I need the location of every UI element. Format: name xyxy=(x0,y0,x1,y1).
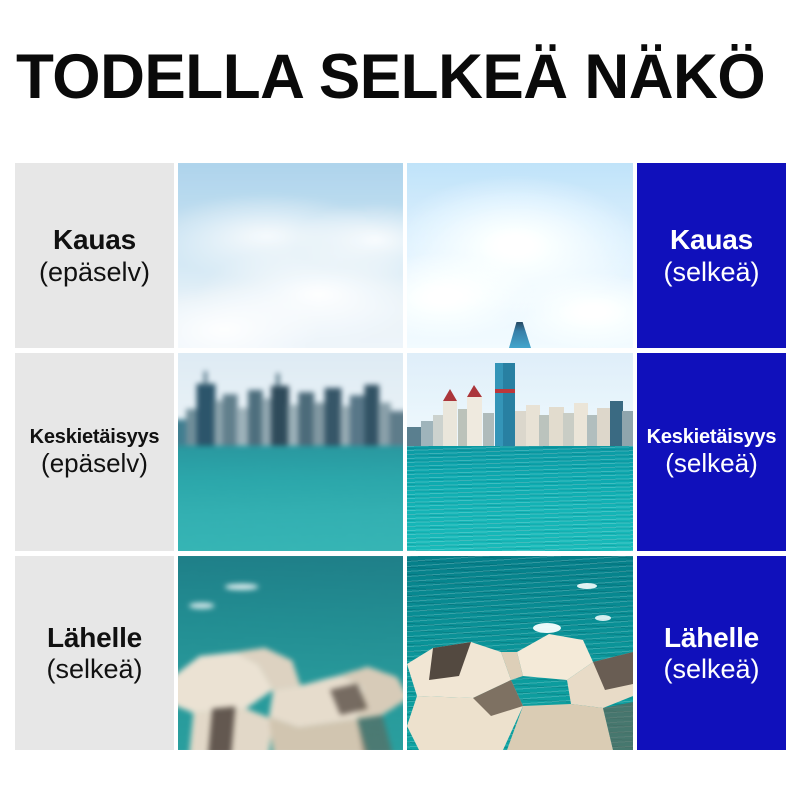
breakwater-scene-sharp xyxy=(407,556,633,750)
sea-water xyxy=(407,446,633,551)
sea-water xyxy=(178,446,403,551)
page-title: TODELLA SELKEÄ NÄKÖ xyxy=(16,44,774,110)
row-near-left-label: Lähelle (selkeä) xyxy=(15,556,174,750)
row-intermediate-photo-blurry xyxy=(178,353,403,551)
label-main: Keskietäisyys xyxy=(30,426,160,448)
label-main: Keskietäisyys xyxy=(647,426,777,448)
row-intermediate-photo-sharp xyxy=(407,353,633,551)
row-near-right-label: Lähelle (selkeä) xyxy=(637,556,786,750)
label-sub: (selkeä) xyxy=(46,654,142,684)
breakwater-scene-blurry xyxy=(178,556,403,750)
tetrapod-blocks xyxy=(178,556,403,750)
label-sub: (selkeä) xyxy=(665,449,757,478)
label-main: Lähelle xyxy=(664,622,759,653)
city-scene-sharp xyxy=(407,353,633,551)
row-near-photo-blurry xyxy=(178,556,403,750)
sky-scene-blurry xyxy=(178,163,403,348)
label-main: Lähelle xyxy=(47,622,142,653)
row-far-left-label: Kauas (epäselv) xyxy=(15,163,174,348)
row-intermediate-right-label: Keskietäisyys (selkeä) xyxy=(637,353,786,551)
label-main: Kauas xyxy=(670,224,753,255)
row-far-photo-blurry xyxy=(178,163,403,348)
row-far-right-label: Kauas (selkeä) xyxy=(637,163,786,348)
row-far-photo-sharp xyxy=(407,163,633,348)
row-near-photo-sharp xyxy=(407,556,633,750)
comparison-grid: Kauas (epäselv) Kauas (selkeä) Keskietäi… xyxy=(15,163,786,755)
label-sub: (epäselv) xyxy=(41,449,148,478)
label-sub: (selkeä) xyxy=(663,654,759,684)
city-scene-blurry xyxy=(178,353,403,551)
tetrapod-blocks xyxy=(407,556,633,750)
label-sub: (selkeä) xyxy=(663,257,759,287)
skyscraper-tip xyxy=(509,322,531,348)
comparison-infographic: TODELLA SELKEÄ NÄKÖ Kauas (epäselv) Kaua… xyxy=(0,0,800,800)
row-intermediate-left-label: Keskietäisyys (epäselv) xyxy=(15,353,174,551)
label-sub: (epäselv) xyxy=(39,257,150,287)
label-main: Kauas xyxy=(53,224,136,255)
sky-scene-sharp xyxy=(407,163,633,348)
